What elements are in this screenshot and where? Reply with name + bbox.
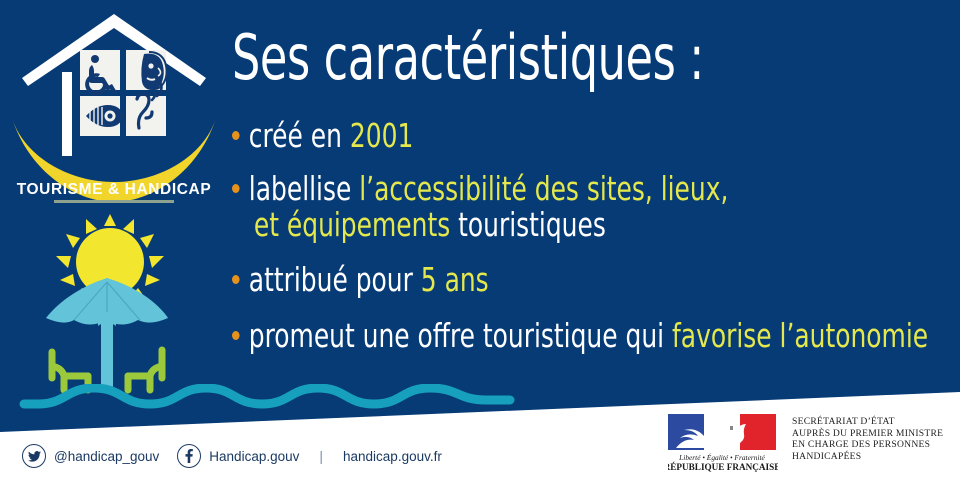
bullet-dot-icon	[232, 331, 240, 340]
ministry-line-3: EN CHARGE DES PERSONNES	[792, 439, 943, 451]
list-item-duration: attribué pour 5 ans	[232, 262, 837, 298]
list-item-labels-accessibility: labellise l’accessibilité des sites, lie…	[232, 171, 837, 207]
tourisme-handicap-logo: TOURISME & HANDICAP	[8, 6, 220, 206]
page-title: Ses caractéristiques :	[232, 26, 704, 89]
twitter-icon	[22, 444, 46, 468]
bullet-text-highlight: 5 ans	[421, 260, 489, 299]
bullet-text-white: attribué pour	[249, 260, 421, 299]
list-item-created: créé en 2001	[232, 118, 837, 154]
ministry-title-block: SECRÉTARIAT D’ÉTAT AUPRÈS DU PREMIER MIN…	[792, 416, 943, 462]
logo-wordmark: TOURISME & HANDICAP	[17, 181, 212, 198]
infographic-canvas: TOURISME & HANDICAP	[0, 0, 960, 480]
website-link[interactable]: handicap.gouv.fr	[343, 449, 442, 464]
bullet-dot-icon	[232, 275, 240, 284]
water-wave-icon	[18, 384, 518, 423]
motto-label: Liberté • Égalité • Fraternité	[678, 452, 765, 462]
republique-francaise-emblem: Liberté • Égalité • Fraternité RÉPUBLIQU…	[668, 414, 778, 472]
bullet-dot-icon	[232, 184, 240, 193]
bullet-text-white: touristiques	[450, 205, 606, 244]
facebook-handle-label: Handicap.gouv	[209, 449, 299, 464]
face-mental-icon	[141, 52, 166, 90]
government-logo: Liberté • Égalité • Fraternité RÉPUBLIQU…	[668, 414, 943, 472]
twitter-handle-label: @handicap_gouv	[54, 449, 159, 464]
facebook-icon	[177, 444, 201, 468]
accessibility-icon-tiles	[80, 50, 167, 136]
ministry-line-2: AUPRÈS DU PREMIER MINISTRE	[792, 428, 943, 440]
twitter-link[interactable]: @handicap_gouv	[22, 444, 159, 468]
bullet-text-highlight: l’accessibilité des sites, lieux,	[359, 169, 728, 208]
list-item-autonomy: promeut une offre touristique qui favori…	[232, 318, 837, 354]
bullet-text-highlight: favorise l’autonomie	[672, 316, 928, 355]
republic-label: RÉPUBLIQUE FRANÇAISE	[668, 462, 778, 472]
footer-separator: |	[319, 448, 323, 464]
ministry-line-1: SECRÉTARIAT D’ÉTAT	[792, 416, 943, 428]
bullet-text-white: promeut une offre touristique qui	[249, 316, 672, 355]
footer-social-bar: @handicap_gouv Handicap.gouv | handicap.…	[22, 444, 442, 468]
bullet-text-highlight: 2001	[350, 116, 413, 155]
characteristics-list: créé en 2001 labellise l’accessibilité d…	[232, 118, 952, 354]
bullet-text-white: labellise	[249, 169, 359, 208]
bullet-text-highlight: et équipements	[254, 205, 450, 244]
bullet-text-white: créé en	[249, 116, 350, 155]
bullet-dot-icon	[232, 131, 240, 140]
list-item-labels-accessibility-line2: et équipements touristiques	[232, 207, 837, 243]
ministry-line-4: HANDICAPÉES	[792, 451, 943, 463]
facebook-link[interactable]: Handicap.gouv	[177, 444, 299, 468]
